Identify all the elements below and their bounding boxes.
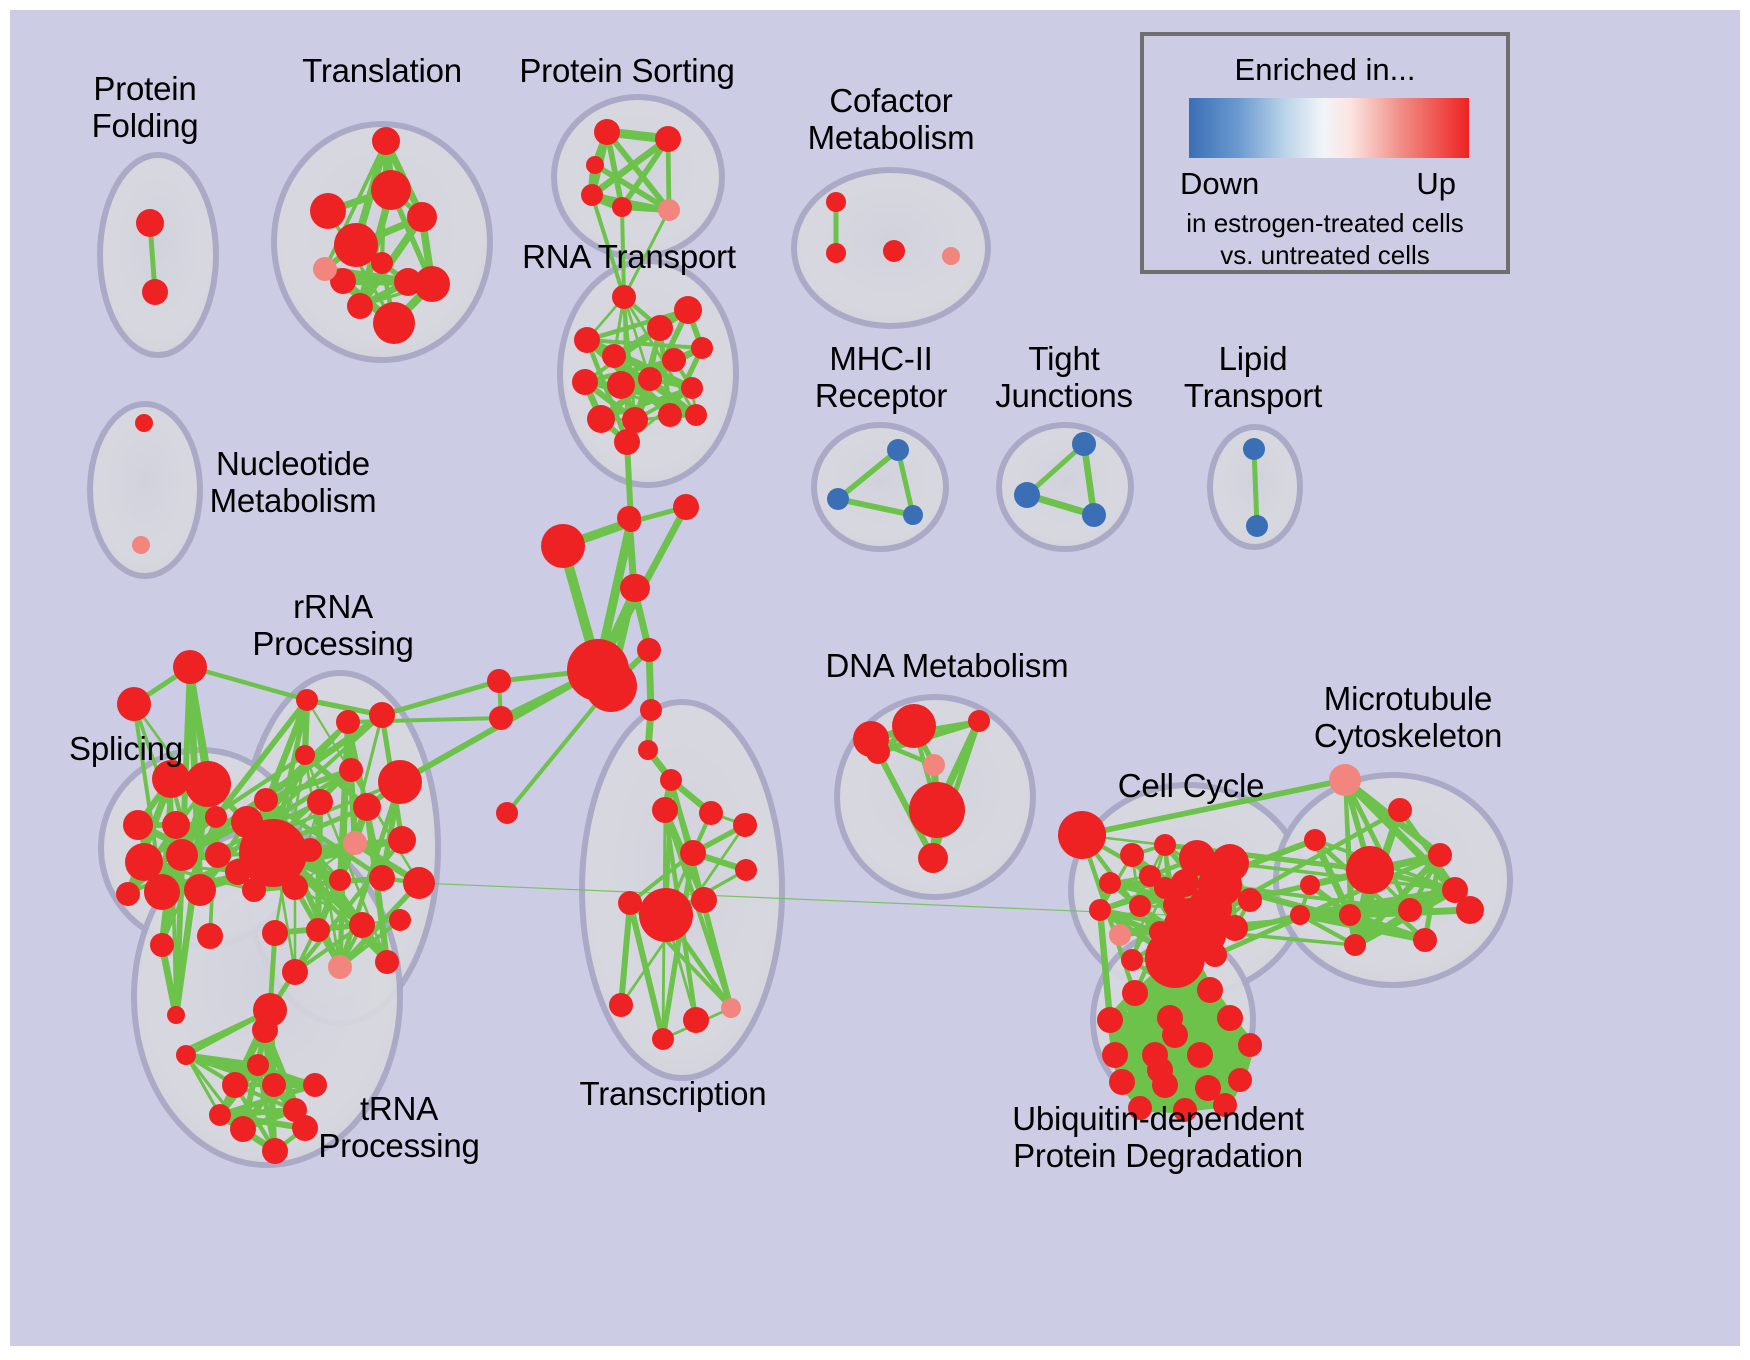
network-node[interactable]	[1154, 834, 1176, 856]
network-node[interactable]	[586, 156, 604, 174]
network-node[interactable]	[283, 1098, 307, 1122]
network-canvas: Protein FoldingTranslationProtein Sortin…	[10, 10, 1740, 1346]
legend-title: Enriched in...	[1144, 52, 1506, 88]
legend-low-label: Down	[1180, 166, 1259, 202]
network-node[interactable]	[1217, 1005, 1243, 1031]
network-node[interactable]	[1121, 949, 1143, 971]
network-node[interactable]	[638, 367, 662, 391]
network-node[interactable]	[1014, 482, 1040, 508]
cluster-label-mhc-ii-receptor: MHC-II Receptor	[815, 340, 947, 414]
cluster-label-microtubule-cytoskeleton: Microtubule Cytoskeleton	[1314, 680, 1502, 754]
network-node[interactable]	[1329, 764, 1361, 796]
network-node[interactable]	[655, 126, 681, 152]
network-node[interactable]	[336, 710, 360, 734]
network-node[interactable]	[371, 252, 393, 274]
cluster-label-protein-sorting: Protein Sorting	[519, 52, 734, 89]
network-node[interactable]	[1428, 843, 1452, 867]
network-node[interactable]	[487, 669, 511, 693]
network-node[interactable]	[866, 740, 890, 764]
network-node[interactable]	[660, 769, 682, 791]
network-node[interactable]	[1147, 1057, 1173, 1083]
network-node[interactable]	[614, 429, 640, 455]
network-node[interactable]	[652, 1028, 674, 1050]
cluster-halo-protein-sorting	[554, 97, 722, 257]
network-node[interactable]	[662, 348, 686, 372]
network-node[interactable]	[1149, 934, 1201, 986]
network-node[interactable]	[262, 920, 288, 946]
network-node[interactable]	[1173, 898, 1207, 932]
network-node[interactable]	[144, 874, 180, 910]
network-node[interactable]	[117, 687, 151, 721]
network-node[interactable]	[123, 810, 153, 840]
network-node[interactable]	[1197, 977, 1223, 1003]
network-node[interactable]	[652, 797, 678, 823]
network-node[interactable]	[1109, 1069, 1135, 1095]
network-node[interactable]	[262, 1138, 288, 1164]
network-node[interactable]	[585, 660, 637, 712]
network-node[interactable]	[306, 918, 330, 942]
network-node[interactable]	[658, 403, 682, 427]
network-node[interactable]	[909, 782, 965, 838]
network-node[interactable]	[313, 257, 337, 281]
legend-box: Enriched in... Down Up in estrogen-treat…	[1140, 32, 1510, 274]
cluster-label-cell-cycle: Cell Cycle	[1118, 767, 1265, 804]
network-node[interactable]	[1290, 905, 1310, 925]
network-node[interactable]	[673, 494, 699, 520]
network-node[interactable]	[1089, 899, 1111, 921]
network-node[interactable]	[1109, 924, 1131, 946]
network-node[interactable]	[136, 209, 164, 237]
network-node[interactable]	[496, 802, 518, 824]
cluster-label-nucleotide-metabolism: Nucleotide Metabolism	[210, 445, 377, 519]
network-node[interactable]	[1388, 798, 1412, 822]
network-node[interactable]	[150, 933, 174, 957]
network-node[interactable]	[1344, 934, 1366, 956]
network-node[interactable]	[1162, 1022, 1188, 1048]
network-node[interactable]	[254, 788, 278, 812]
network-node[interactable]	[353, 793, 381, 821]
network-node[interactable]	[621, 512, 641, 532]
network-node[interactable]	[371, 170, 411, 210]
network-node[interactable]	[1187, 1042, 1213, 1068]
legend-caption-line2: vs. untreated cells	[1144, 240, 1506, 271]
cluster-label-lipid-transport: Lipid Transport	[1184, 340, 1322, 414]
network-node[interactable]	[252, 1017, 278, 1043]
network-node[interactable]	[378, 760, 422, 804]
network-node[interactable]	[132, 536, 150, 554]
network-node[interactable]	[1102, 1042, 1128, 1068]
edge	[1254, 449, 1257, 526]
network-node[interactable]	[607, 371, 635, 399]
network-node[interactable]	[887, 439, 909, 461]
network-node[interactable]	[609, 993, 633, 1017]
network-node[interactable]	[247, 1054, 269, 1076]
network-node[interactable]	[612, 285, 636, 309]
network-node[interactable]	[638, 740, 658, 760]
cluster-label-rna-transport: RNA Transport	[522, 238, 736, 275]
network-node[interactable]	[209, 1104, 231, 1126]
network-node[interactable]	[581, 184, 603, 206]
network-node[interactable]	[639, 888, 693, 942]
network-node[interactable]	[205, 842, 231, 868]
network-node[interactable]	[310, 193, 346, 229]
network-node[interactable]	[574, 327, 600, 353]
network-node[interactable]	[347, 293, 373, 319]
network-node[interactable]	[242, 878, 266, 902]
network-node[interactable]	[244, 818, 268, 842]
network-node[interactable]	[369, 702, 395, 728]
network-node[interactable]	[407, 202, 437, 232]
network-node[interactable]	[923, 754, 945, 776]
network-node[interactable]	[903, 505, 923, 525]
network-node[interactable]	[612, 197, 632, 217]
network-node[interactable]	[681, 377, 703, 399]
network-node[interactable]	[1456, 896, 1484, 924]
cluster-halo-transcription	[582, 702, 782, 1078]
network-node[interactable]	[328, 955, 352, 979]
network-node[interactable]	[587, 405, 615, 433]
network-node[interactable]	[262, 1073, 286, 1097]
network-node[interactable]	[369, 865, 395, 891]
network-node[interactable]	[1058, 811, 1106, 859]
network-node[interactable]	[942, 247, 960, 265]
cluster-label-translation: Translation	[302, 52, 462, 89]
network-node[interactable]	[403, 867, 435, 899]
network-node[interactable]	[295, 745, 315, 765]
network-node[interactable]	[827, 488, 849, 510]
network-node[interactable]	[918, 843, 948, 873]
network-node[interactable]	[1346, 846, 1394, 894]
cluster-label-trna-processing: tRNA Processing	[318, 1090, 479, 1164]
cluster-label-transcription: Transcription	[580, 1075, 767, 1112]
network-node[interactable]	[1082, 503, 1106, 527]
network-node[interactable]	[414, 266, 450, 302]
network-node[interactable]	[733, 813, 757, 837]
network-node[interactable]	[388, 826, 416, 854]
edge	[419, 883, 1170, 915]
network-node[interactable]	[389, 909, 411, 931]
network-node[interactable]	[968, 710, 990, 732]
network-node[interactable]	[1072, 432, 1096, 456]
network-node[interactable]	[1304, 829, 1326, 851]
network-node[interactable]	[1122, 980, 1148, 1006]
edge	[382, 681, 499, 715]
network-node[interactable]	[282, 959, 308, 985]
network-node[interactable]	[339, 758, 363, 782]
edge	[190, 667, 307, 700]
network-node[interactable]	[372, 127, 400, 155]
network-node[interactable]	[343, 831, 367, 855]
network-node[interactable]	[205, 806, 227, 828]
network-node[interactable]	[892, 704, 936, 748]
network-node[interactable]	[691, 337, 713, 359]
network-node[interactable]	[541, 524, 585, 568]
network-node[interactable]	[1413, 928, 1437, 952]
cluster-label-tight-junctions: Tight Junctions	[995, 340, 1133, 414]
figure-root: Protein FoldingTranslationProtein Sortin…	[0, 0, 1750, 1360]
network-node[interactable]	[230, 1116, 256, 1142]
network-node[interactable]	[307, 789, 333, 815]
network-node[interactable]	[637, 638, 661, 662]
network-node[interactable]	[135, 414, 153, 432]
network-node[interactable]	[602, 344, 626, 368]
network-node[interactable]	[683, 1007, 709, 1033]
network-node[interactable]	[826, 243, 846, 263]
network-node[interactable]	[142, 279, 168, 305]
cluster-halo-protein-folding	[100, 155, 216, 355]
network-node[interactable]	[167, 1006, 185, 1024]
cluster-label-dna-metabolism: DNA Metabolism	[826, 647, 1069, 684]
network-node[interactable]	[1222, 915, 1248, 941]
network-node[interactable]	[185, 761, 231, 807]
network-node[interactable]	[1203, 943, 1227, 967]
network-node[interactable]	[680, 840, 706, 866]
network-node[interactable]	[658, 199, 680, 221]
network-node[interactable]	[594, 119, 620, 145]
network-node[interactable]	[721, 998, 741, 1018]
network-node[interactable]	[329, 869, 351, 891]
network-node[interactable]	[622, 574, 650, 602]
network-node[interactable]	[1238, 888, 1262, 912]
network-node[interactable]	[674, 296, 702, 324]
cluster-label-ubiquitin-protein-degradation: Ubiquitin-dependent Protein Degradation	[1012, 1100, 1304, 1174]
cluster-halo-mhc-ii-receptor	[814, 425, 946, 549]
legend-high-label: Up	[1416, 166, 1456, 202]
network-node[interactable]	[1246, 515, 1268, 537]
network-node[interactable]	[349, 912, 375, 938]
network-node[interactable]	[1398, 898, 1422, 922]
cluster-label-cofactor-metabolism: Cofactor Metabolism	[808, 82, 975, 156]
network-node[interactable]	[296, 689, 318, 711]
network-node[interactable]	[298, 838, 322, 862]
network-node[interactable]	[176, 1045, 196, 1065]
network-node[interactable]	[282, 874, 308, 900]
cluster-label-splicing: Splicing	[69, 730, 183, 767]
network-node[interactable]	[373, 302, 415, 344]
network-node[interactable]	[162, 811, 190, 839]
network-node[interactable]	[883, 240, 905, 262]
cluster-label-rrna-processing: rRNA Processing	[252, 588, 413, 662]
legend-caption-line1: in estrogen-treated cells	[1144, 208, 1506, 239]
network-node[interactable]	[1129, 895, 1151, 917]
network-node[interactable]	[826, 192, 846, 212]
network-node[interactable]	[640, 699, 662, 721]
network-node[interactable]	[1154, 877, 1176, 899]
network-node[interactable]	[166, 839, 198, 871]
network-node[interactable]	[375, 950, 399, 974]
network-node[interactable]	[1099, 872, 1121, 894]
network-node[interactable]	[184, 874, 216, 906]
network-node[interactable]	[1097, 1007, 1123, 1033]
network-node[interactable]	[685, 404, 707, 426]
network-node[interactable]	[1339, 904, 1361, 926]
network-node[interactable]	[197, 923, 223, 949]
network-node[interactable]	[1228, 1068, 1252, 1092]
legend-colorbar	[1189, 98, 1469, 158]
cluster-label-protein-folding: Protein Folding	[92, 70, 199, 144]
network-node[interactable]	[1120, 843, 1144, 867]
network-node[interactable]	[489, 706, 513, 730]
network-node[interactable]	[1243, 438, 1265, 460]
network-node[interactable]	[699, 801, 723, 825]
network-node[interactable]	[1238, 1033, 1262, 1057]
network-node[interactable]	[618, 891, 642, 915]
network-node[interactable]	[1300, 875, 1320, 895]
network-node[interactable]	[691, 887, 717, 913]
network-node[interactable]	[116, 882, 140, 906]
network-node[interactable]	[647, 315, 673, 341]
network-node[interactable]	[572, 369, 598, 395]
network-node[interactable]	[173, 650, 207, 684]
network-node[interactable]	[735, 859, 757, 881]
network-node[interactable]	[222, 1072, 248, 1098]
